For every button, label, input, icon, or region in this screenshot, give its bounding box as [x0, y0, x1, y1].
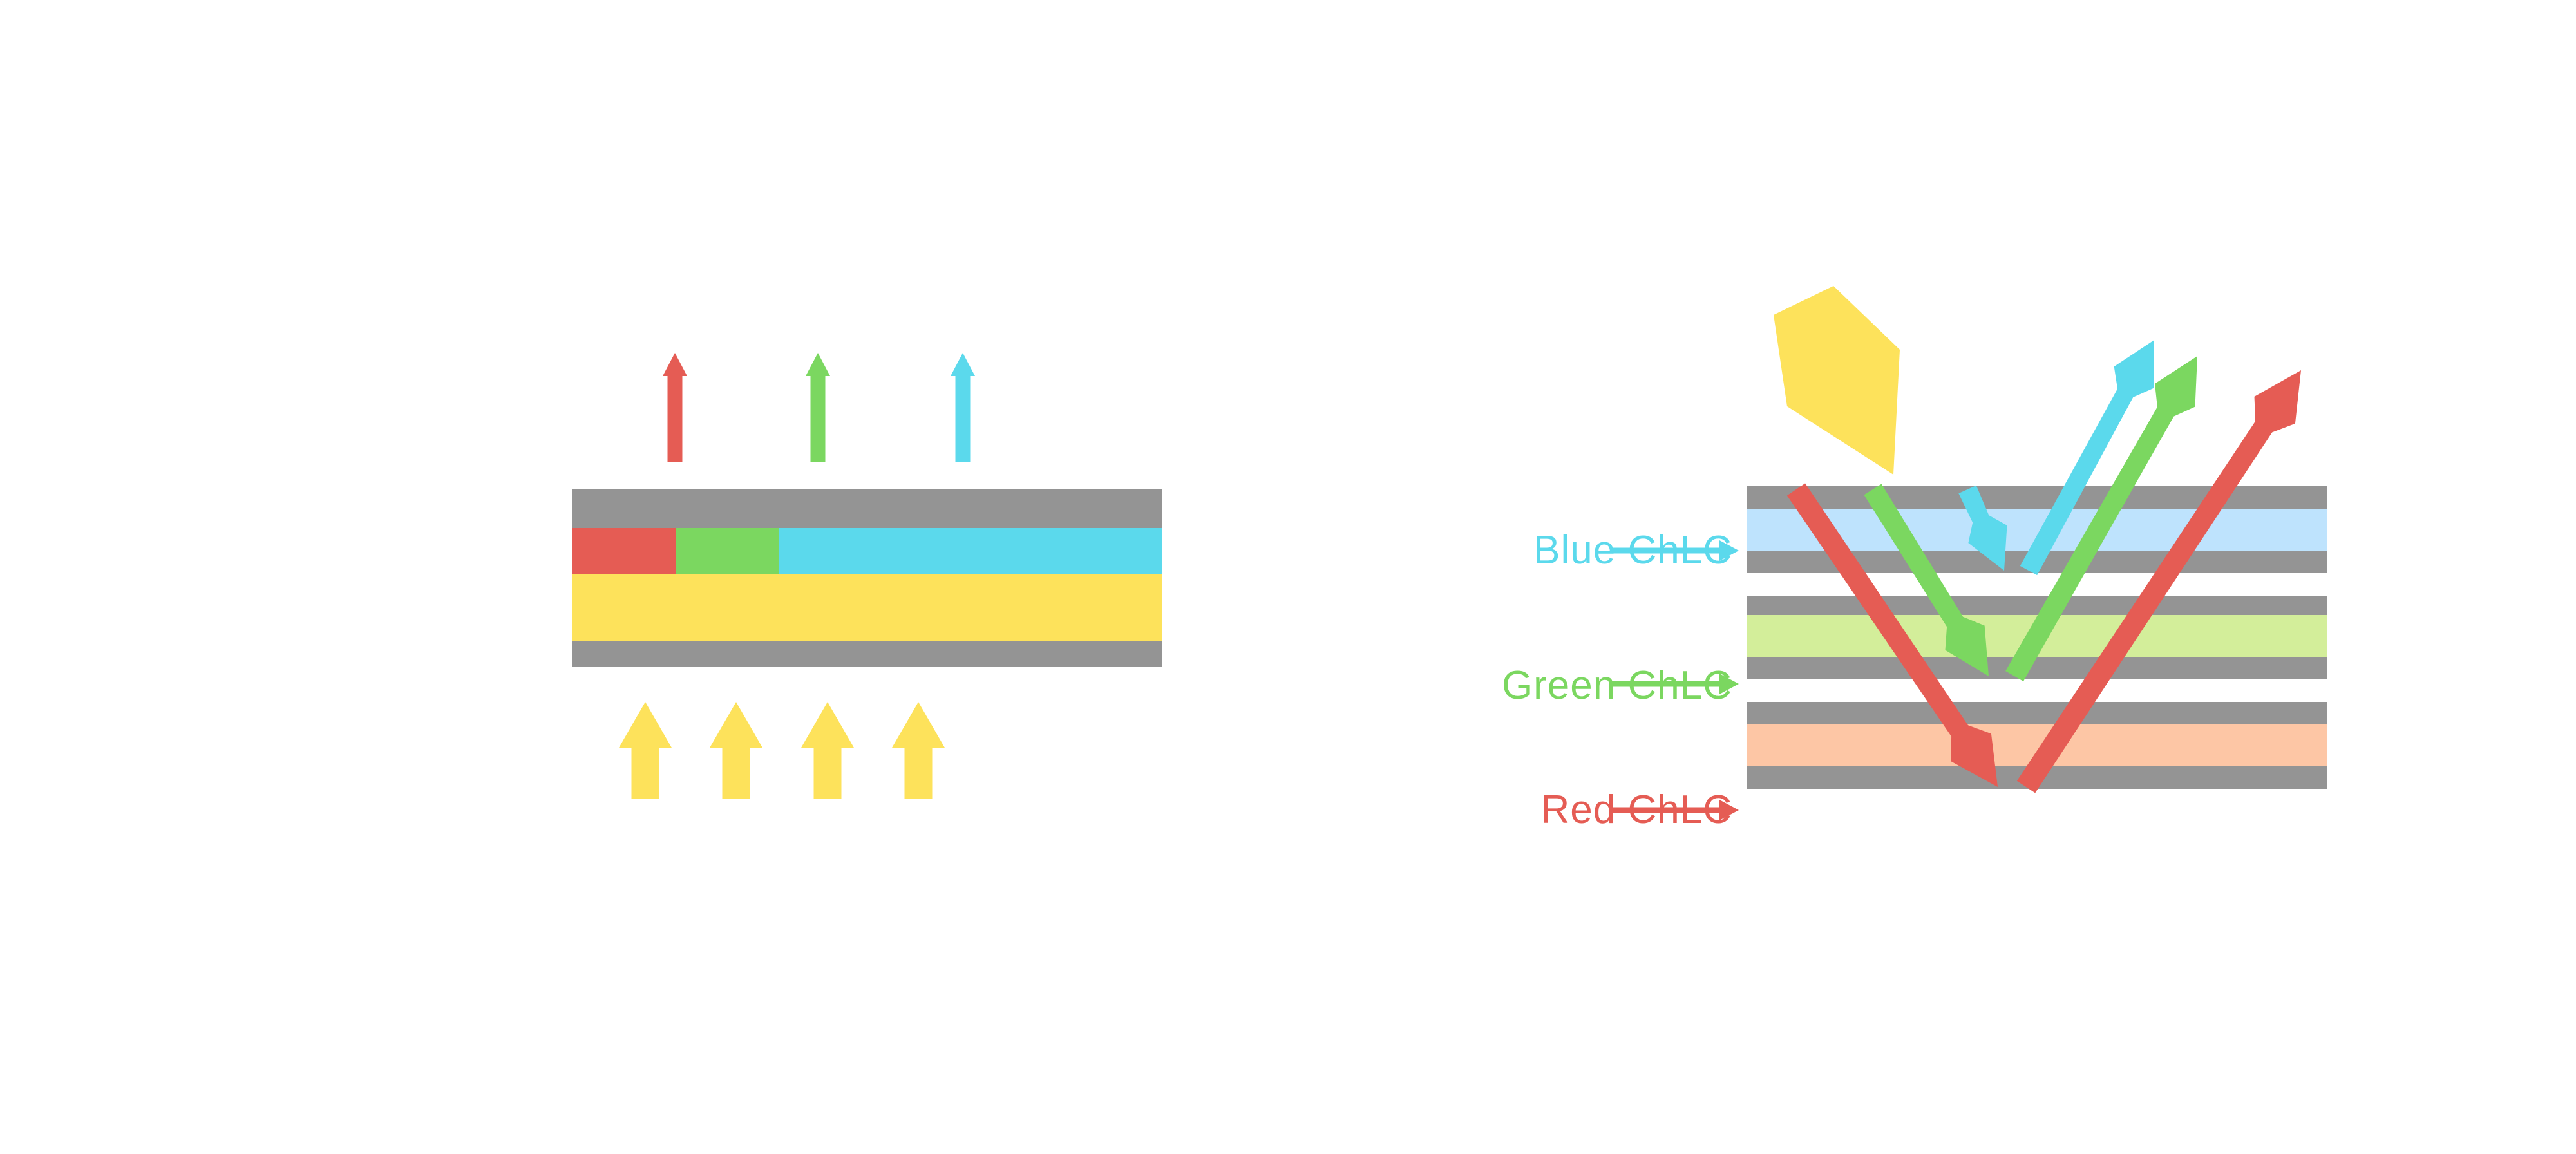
backlight-arrow-2 [710, 702, 763, 799]
diagram-svg: Blue ChLCGreen ChLCRed ChLC [0, 0, 2576, 1154]
green-color-filter [676, 528, 779, 574]
top-electrode [572, 489, 1162, 528]
chlc-labels: Blue ChLCGreen ChLCRed ChLC [1502, 528, 1739, 832]
emitted-rgb-light-group [663, 353, 975, 462]
color-filter-row [572, 528, 1162, 574]
green-bottom-substrate [1747, 657, 2327, 679]
backlight-arrow-1 [619, 702, 672, 799]
diagram-canvas: Blue ChLCGreen ChLCRed ChLC Blue ChLC Gr… [0, 0, 2576, 1154]
red-emitted-arrow [663, 353, 687, 462]
green-emitted-arrow [806, 353, 830, 462]
right-panel: Blue ChLCGreen ChLCRed ChLC [1502, 286, 2327, 832]
green-top-substrate [1747, 596, 2327, 615]
backlight-arrow-4 [892, 702, 945, 799]
ambient-white-light-arrow [1774, 286, 1900, 475]
red-top-substrate [1747, 702, 2327, 724]
backlight-illumination-group [619, 702, 945, 799]
bottom-electrode [572, 641, 1162, 667]
cyan-emitted-arrow [951, 353, 975, 462]
left-stack [572, 489, 1162, 667]
blue-top-substrate [1747, 486, 2327, 509]
left-panel [572, 353, 1162, 799]
backlight-layer [572, 574, 1162, 641]
red-color-filter [572, 528, 676, 574]
blue-color-filter [779, 528, 1162, 574]
backlight-arrow-3 [801, 702, 855, 799]
